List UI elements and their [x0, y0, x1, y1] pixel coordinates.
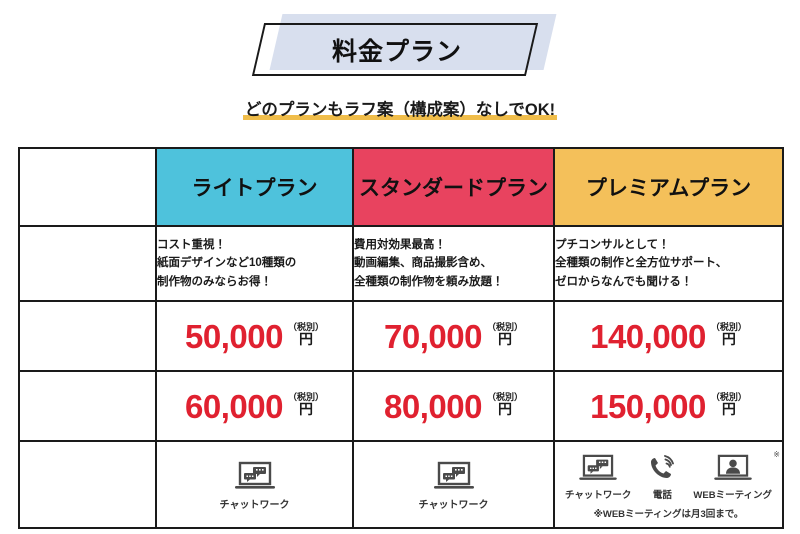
price-6month-premium: 150,000 （税別） 円: [554, 371, 783, 441]
chat-laptop-icon: [578, 450, 618, 484]
row-label-communication-tools: コミュニケーション ツール: [19, 441, 156, 528]
plan-header-standard: スタンダードプラン: [353, 148, 554, 226]
web-meeting-icon: [713, 450, 753, 484]
comm-tool-item: ※ WEBミーティング: [693, 450, 772, 501]
comm-tool-item: チャットワーク: [565, 450, 631, 501]
comm-tool-item: チャットワーク: [419, 459, 489, 511]
row-label-line: ツール: [20, 485, 155, 502]
price-amount: 150,000: [590, 390, 706, 423]
row-label-line: （月額）: [20, 406, 155, 426]
row-label-plan-name: プラン名: [19, 148, 156, 226]
price-currency: 円: [498, 402, 512, 417]
phone-ringing-icon: [647, 450, 677, 484]
feature-line: 全種類の制作と全方位サポート、: [555, 254, 782, 273]
chat-laptop-icon: [234, 459, 276, 493]
comm-tool-item: 電話: [647, 450, 677, 501]
price-amount: 60,000: [185, 390, 283, 423]
price-6month-light: 60,000 （税別） 円: [156, 371, 353, 441]
chat-laptop-icon: [433, 459, 475, 493]
price-amount: 80,000: [384, 390, 482, 423]
price-amount: 140,000: [590, 320, 706, 353]
price-currency: 円: [722, 402, 736, 417]
pricing-table: プラン名 ライトプラン スタンダードプラン プレミアムプラン 特 徴 コスト重視…: [18, 147, 784, 529]
comm-tool-label: チャットワーク: [565, 487, 631, 501]
price-currency: 円: [498, 332, 512, 347]
page-title: 料金プラン: [258, 23, 536, 76]
table-row-plan-names: プラン名 ライトプラン スタンダードプラン プレミアムプラン: [19, 148, 783, 226]
table-row-price-6month: 6ヶ月契約 （月額） 60,000 （税別） 円 80,000 （税別） 円: [19, 371, 783, 441]
comm-tool-label: チャットワーク: [419, 496, 489, 511]
row-label-term-12month: 12ヶ月契約 （月額）: [19, 301, 156, 371]
price-currency: 円: [722, 332, 736, 347]
feature-line: 全種類の制作物を頼み放題！: [354, 273, 553, 292]
features-premium: プチコンサルとして！ 全種類の制作と全方位サポート、 ゼロからなんでも聞ける！: [554, 226, 783, 301]
features-light: コスト重視！ 紙面デザインなど10種類の 制作物のみならお得！: [156, 226, 353, 301]
feature-line: ゼロからなんでも聞ける！: [555, 273, 782, 292]
row-label-features: 特 徴: [19, 226, 156, 301]
feature-line: 動画編集、商品撮影含め、: [354, 254, 553, 273]
feature-line: コスト重視！: [157, 236, 352, 255]
communication-premium: チャットワーク 電話: [554, 441, 783, 528]
subtitle-text: どのプランもラフ案（構成案）なしでOK!: [243, 101, 557, 120]
communication-footnote: ※WEBミーティングは月3回まで。: [594, 506, 744, 520]
price-amount: 70,000: [384, 320, 482, 353]
plan-header-light: ライトプラン: [156, 148, 353, 226]
table-row-features: 特 徴 コスト重視！ 紙面デザインなど10種類の 制作物のみならお得！ 費用対効…: [19, 226, 783, 301]
feature-line: 費用対効果最高！: [354, 236, 553, 255]
feature-line: 制作物のみならお得！: [157, 273, 352, 292]
feature-line: 紙面デザインなど10種類の: [157, 254, 352, 273]
comm-tool-label: WEBミーティング: [693, 487, 772, 501]
row-label-line: コミュニケーション: [20, 467, 155, 484]
subtitle: どのプランもラフ案（構成案）なしでOK!: [0, 96, 800, 120]
plan-header-premium: プレミアムプラン: [554, 148, 783, 226]
price-12month-light: 50,000 （税別） 円: [156, 301, 353, 371]
page-title-banner: 料金プラン: [258, 14, 550, 76]
footnote-marker-icon: ※: [773, 450, 780, 459]
comm-tool-label: チャットワーク: [220, 496, 290, 511]
row-label-term-6month: 6ヶ月契約 （月額）: [19, 371, 156, 441]
feature-line: プチコンサルとして！: [555, 236, 782, 255]
price-currency: 円: [299, 402, 313, 417]
communication-light: チャットワーク: [156, 441, 353, 528]
price-12month-premium: 140,000 （税別） 円: [554, 301, 783, 371]
comm-tool-label: 電話: [653, 487, 672, 501]
price-currency: 円: [299, 332, 313, 347]
row-label-line: 6ヶ月契約: [20, 386, 155, 406]
price-6month-standard: 80,000 （税別） 円: [353, 371, 554, 441]
row-label-line: （月額）: [20, 336, 155, 356]
features-standard: 費用対効果最高！ 動画編集、商品撮影含め、 全種類の制作物を頼み放題！: [353, 226, 554, 301]
price-12month-standard: 70,000 （税別） 円: [353, 301, 554, 371]
row-label-line: 12ヶ月契約: [20, 316, 155, 336]
comm-tool-item: チャットワーク: [220, 459, 290, 511]
table-row-communication-tools: コミュニケーション ツール: [19, 441, 783, 528]
table-row-price-12month: 12ヶ月契約 （月額） 50,000 （税別） 円 70,000 （税別） 円: [19, 301, 783, 371]
price-amount: 50,000: [185, 320, 283, 353]
communication-standard: チャットワーク: [353, 441, 554, 528]
